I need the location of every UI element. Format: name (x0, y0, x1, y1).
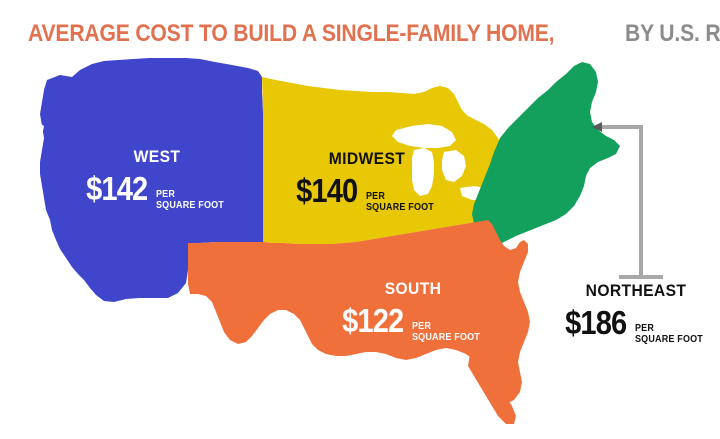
infographic-root: AVERAGE COST TO BUILD A SINGLE-FAMILY HO… (0, 0, 720, 439)
page-title-sub: BY U.S. REGION (625, 19, 720, 49)
us-region-map (0, 52, 720, 427)
page-title-main: AVERAGE COST TO BUILD A SINGLE-FAMILY HO… (28, 19, 554, 49)
map-gulf-coast-detail (300, 352, 462, 384)
map-region-northeast[interactable] (472, 62, 620, 246)
page-title: AVERAGE COST TO BUILD A SINGLE-FAMILY HO… (28, 19, 698, 49)
map-svg (0, 52, 720, 427)
